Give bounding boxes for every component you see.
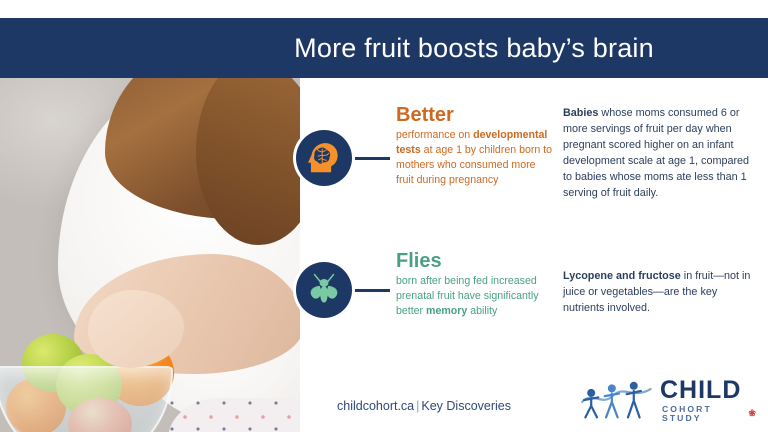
detail-block-lycopene: Lycopene and fructose in fruit—not in ju… [563, 269, 758, 317]
fly-icon-badge [296, 262, 352, 318]
logo-tagline: COHORT STUDY [662, 405, 744, 422]
footer-attribution[interactable]: childcohort.ca|Key Discoveries [337, 399, 511, 413]
maple-leaf-icon: ❀ [748, 409, 758, 418]
infographic-slide: More fruit boosts baby’s brain Bolduc FV… [0, 0, 768, 432]
finding-body-flies: born after being fed increased prenatal … [396, 274, 558, 319]
finding-block-flies: Flies born after being fed increased pre… [396, 250, 558, 319]
finding-block-better: Better performance on developmental test… [396, 104, 556, 188]
three-people-figures-icon [578, 380, 656, 420]
brain-head-icon-badge [296, 130, 352, 186]
hero-photo: Bolduc FV, et al. EBioMedicine 2016;8:33… [0, 78, 300, 432]
footer-website[interactable]: childcohort.ca [337, 399, 414, 413]
brain-head-icon [305, 139, 343, 177]
connector-line-flies [350, 289, 390, 292]
footer-section: Key Discoveries [421, 399, 511, 413]
finding-body-better: performance on developmental tests at ag… [396, 128, 556, 188]
logo-wordmark: CHILD [660, 378, 741, 403]
fly-icon [305, 271, 343, 309]
glass-bowl [0, 366, 173, 432]
finding-heading-flies: Flies [396, 250, 558, 272]
detail-block-babies: Babies whose moms consumed 6 or more ser… [563, 106, 758, 202]
header-bar: More fruit boosts baby’s brain [0, 18, 768, 78]
babies-paragraph: Babies whose moms consumed 6 or more ser… [563, 106, 758, 202]
page-title: More fruit boosts baby’s brain [0, 18, 768, 78]
finding-heading-better: Better [396, 104, 556, 126]
photo-skirt-pattern [168, 398, 300, 432]
connector-line-better [350, 157, 390, 160]
logo-tagline-row: COHORT STUDY ❀ [662, 405, 758, 422]
lycopene-paragraph: Lycopene and fructose in fruit—not in ju… [563, 269, 758, 317]
child-cohort-logo: CHILD COHORT STUDY ❀ [578, 380, 758, 422]
